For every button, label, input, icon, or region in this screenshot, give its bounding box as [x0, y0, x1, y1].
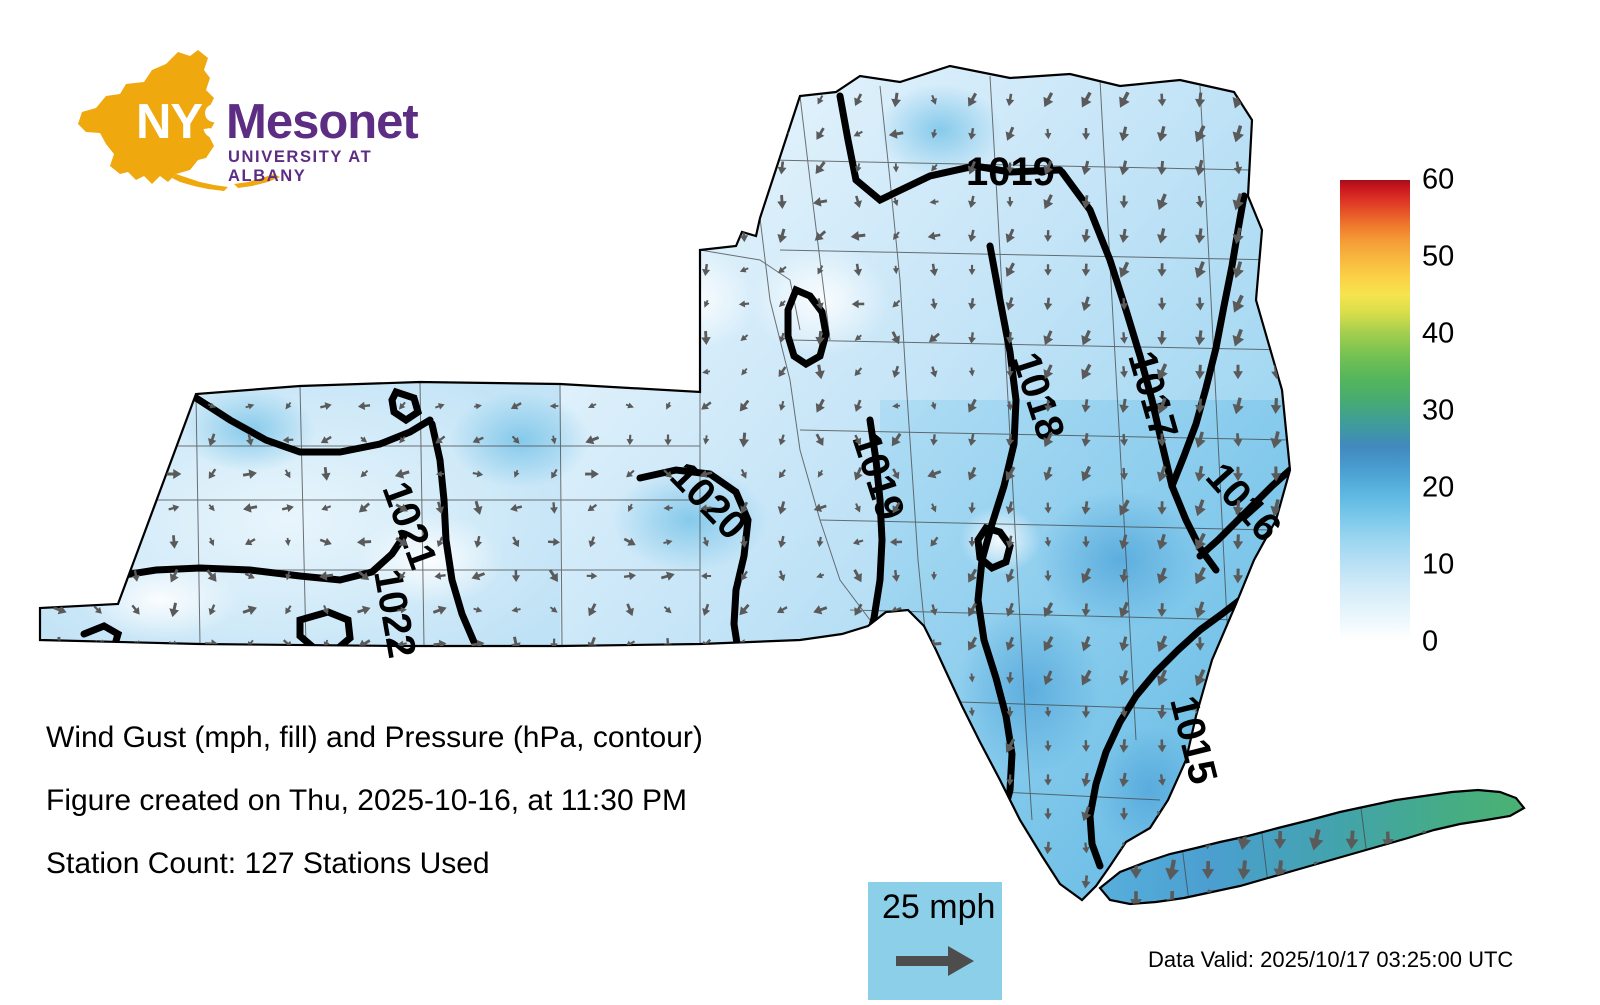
wind-arrow-glyph: [242, 160, 257, 176]
wind-arrow-glyph: [92, 674, 103, 682]
wind-arrow-glyph: [587, 94, 596, 106]
wind-arrow-glyph: [431, 670, 449, 686]
wind-arrow-glyph: [395, 262, 409, 278]
wind-arrow-glyph: [1267, 735, 1285, 756]
plot-title-line: Wind Gust (mph, fill) and Pressure (hPa,…: [46, 721, 703, 755]
wind-arrow-glyph: [281, 298, 296, 309]
wind-arrow-glyph: [508, 364, 524, 380]
wind-arrow-glyph: [130, 264, 142, 275]
colorbar-tick-40: 40: [1422, 318, 1454, 351]
wind-arrow-glyph: [167, 399, 181, 413]
wind-arrow-glyph: [433, 706, 448, 718]
wind-arrow-glyph: [131, 164, 141, 171]
wind-arrow-glyph: [659, 704, 677, 720]
wind-arrow-glyph: [1453, 890, 1467, 909]
wind-arrow-glyph: [584, 672, 600, 684]
wind-arrow-glyph: [127, 399, 144, 413]
wind-arrow-glyph: [243, 706, 257, 717]
wind-arrow-glyph: [283, 94, 293, 106]
wind-arrow-glyph: [436, 299, 443, 309]
wind-arrow-glyph: [166, 93, 181, 108]
wind-arrow-glyph: [358, 93, 370, 106]
wind-arrow-glyph: [1267, 633, 1285, 654]
wind-arrow-glyph: [549, 93, 559, 108]
wind-arrow-glyph: [1269, 669, 1282, 687]
wind-arrow-glyph: [1005, 875, 1015, 888]
wind-arrow-glyph: [738, 93, 749, 107]
wind-arrow-glyph: [547, 672, 560, 683]
wind-arrow-glyph: [318, 228, 335, 244]
wind-arrow-glyph: [660, 363, 677, 381]
wind-arrow-glyph: [242, 194, 258, 211]
wind-arrow-glyph: [472, 298, 484, 310]
wind-arrow-glyph: [854, 809, 862, 820]
wind-arrow-glyph: [128, 703, 144, 721]
wind-arrow-glyph: [663, 299, 672, 309]
colorbar-gradient: [1340, 180, 1410, 640]
wind-arrow-glyph: [55, 298, 65, 310]
wind-arrow-glyph: [852, 840, 864, 856]
wind-arrow-glyph: [701, 198, 711, 206]
wind-arrow-glyph: [432, 230, 447, 241]
wind-arrow-glyph: [92, 503, 104, 513]
wind-arrow-glyph: [510, 672, 523, 685]
wind-arrow-glyph: [1271, 568, 1281, 583]
wind-arrow-glyph: [698, 839, 714, 857]
wind-arrow-glyph: [90, 332, 105, 344]
wind-arrow-glyph: [850, 738, 867, 753]
wind-gust-colorbar: 60 50 40 30 20 10 0: [1340, 180, 1410, 640]
wind-arrow-glyph: [472, 161, 484, 174]
wind-arrow-glyph: [546, 196, 561, 208]
wind-arrow-glyph: [625, 161, 634, 174]
wind-arrow-glyph: [53, 194, 66, 210]
wind-arrow-glyph: [360, 299, 368, 309]
wind-arrow-glyph: [1195, 807, 1206, 822]
wind-arrow-glyph: [54, 706, 66, 717]
wind-arrow-glyph: [584, 264, 599, 277]
wind-arrow-glyph: [1267, 225, 1285, 246]
wind-arrow-glyph: [774, 92, 790, 108]
wind-arrow-glyph: [510, 706, 522, 719]
wind-arrow-glyph: [968, 775, 976, 786]
wind-arrow-glyph: [738, 809, 750, 819]
wind-arrow-glyph: [472, 128, 484, 140]
wind-arrow-glyph: [357, 229, 371, 243]
wind-arrow-glyph: [170, 436, 177, 445]
wind-arrow-glyph: [549, 127, 560, 142]
wind-arrow-glyph: [204, 262, 219, 278]
wind-arrow-glyph: [321, 365, 332, 379]
wind-arrow-glyph: [55, 468, 65, 480]
wind-arrow-glyph: [1266, 157, 1286, 180]
wind-arrow-glyph: [395, 707, 409, 717]
wind-arrow-glyph: [471, 365, 486, 379]
wind-arrow-glyph: [207, 231, 217, 240]
wind-speed-reference-legend: 25 mph: [868, 882, 1002, 1000]
arrow-right-icon: [896, 944, 976, 978]
wind-arrow-glyph: [814, 739, 825, 753]
wind-arrow-glyph: [622, 264, 637, 275]
wind-arrow-glyph: [662, 163, 674, 172]
wind-arrow-glyph: [663, 94, 673, 107]
wind-arrow-glyph: [1157, 842, 1167, 855]
wind-arrow-glyph: [396, 127, 408, 142]
wind-arrow-glyph: [320, 195, 331, 210]
wind-arrow-glyph: [203, 160, 221, 177]
wind-arrow-glyph: [93, 266, 103, 274]
wind-arrow-glyph: [739, 774, 748, 786]
wind-arrow-glyph: [1270, 331, 1281, 346]
wind-arrow-glyph: [663, 333, 673, 343]
wind-arrow-glyph: [207, 333, 217, 344]
wind-arrow-glyph: [359, 705, 369, 718]
wind-arrow-glyph: [207, 300, 216, 307]
wind-arrow-glyph: [929, 775, 940, 784]
wind-arrow-glyph: [130, 470, 142, 478]
wind-arrow-glyph: [169, 299, 179, 309]
colorbar-tick-10: 10: [1422, 549, 1454, 582]
wind-arrow-glyph: [815, 672, 825, 683]
wind-arrow-glyph: [511, 198, 522, 207]
wind-arrow-glyph: [396, 232, 408, 240]
wind-arrow-glyph: [926, 805, 942, 822]
wind-arrow-glyph: [625, 673, 635, 682]
wind-arrow-glyph: [206, 96, 217, 104]
wind-arrow-glyph: [358, 331, 370, 345]
wind-arrow-glyph: [169, 366, 178, 378]
wind-arrow-glyph: [660, 126, 677, 142]
wind-arrow-glyph: [776, 705, 788, 719]
wind-arrow-glyph: [589, 129, 596, 138]
wind-arrow-glyph: [473, 334, 484, 342]
wind-arrow-glyph: [588, 707, 595, 716]
wind-arrow-glyph: [128, 669, 145, 686]
wind-arrow-glyph: [626, 843, 634, 852]
wind-arrow-glyph: [131, 231, 141, 242]
wind-arrow-glyph: [851, 635, 865, 652]
wind-arrow-glyph: [280, 193, 296, 211]
wind-arrow-glyph: [91, 229, 104, 243]
wind-arrow-glyph: [205, 364, 218, 380]
wind-arrow-glyph: [1270, 703, 1283, 721]
wind-arrow-glyph: [246, 265, 255, 275]
wind-arrow-glyph: [735, 737, 753, 755]
wind-arrow-glyph: [167, 162, 182, 175]
wind-arrow-glyph: [92, 433, 105, 446]
wind-arrow-glyph: [57, 435, 63, 444]
wind-arrow-glyph: [170, 333, 177, 343]
wind-arrow-glyph: [128, 332, 143, 344]
wind-arrow-glyph: [778, 811, 787, 818]
wind-arrow-glyph: [208, 129, 216, 140]
wind-arrow-glyph: [319, 298, 333, 310]
wind-arrow-glyph: [549, 334, 560, 341]
wind-arrow-glyph: [281, 707, 296, 718]
wind-arrow-glyph: [853, 773, 863, 787]
wind-arrow-glyph: [91, 707, 104, 716]
wind-arrow-glyph: [511, 300, 521, 308]
wind-arrow-glyph: [549, 231, 559, 241]
wind-arrow-glyph: [93, 402, 103, 410]
wind-arrow-glyph: [816, 639, 824, 649]
wind-arrow-glyph: [736, 670, 752, 685]
wind-arrow-glyph: [54, 263, 66, 276]
wind-arrow-glyph: [700, 877, 711, 887]
wind-arrow-glyph: [773, 840, 790, 856]
colorbar-tick-50: 50: [1422, 241, 1454, 274]
wind-arrow-glyph: [131, 299, 141, 309]
wind-arrow-glyph: [968, 809, 975, 818]
wind-arrow-glyph: [1238, 891, 1251, 910]
wind-arrow-glyph: [775, 773, 789, 787]
wind-arrow-glyph: [510, 163, 521, 173]
wind-arrow-glyph: [624, 194, 637, 211]
wind-arrow-glyph: [547, 299, 561, 310]
wind-arrow-glyph: [241, 296, 259, 313]
wind-arrow-glyph: [54, 231, 65, 240]
wind-arrow-glyph: [931, 741, 937, 750]
wind-arrow-glyph: [473, 673, 483, 683]
wind-arrow-glyph: [1307, 889, 1325, 912]
wind-arrow-glyph: [356, 262, 372, 277]
wind-arrow-glyph: [1452, 829, 1469, 851]
wind-arrow-glyph: [698, 774, 714, 787]
wind-arrow-glyph: [853, 706, 863, 718]
wind-arrow-glyph: [91, 534, 105, 550]
wind-arrow-glyph: [698, 227, 715, 244]
wind-arrow-glyph: [321, 332, 332, 343]
wind-arrow-glyph: [1490, 891, 1503, 909]
wind-arrow-glyph: [738, 875, 750, 890]
wind-arrow-glyph: [472, 265, 484, 274]
wind-arrow-glyph: [662, 874, 675, 889]
wind-arrow-glyph: [1044, 877, 1052, 888]
wind-arrow-glyph: [774, 875, 790, 889]
wind-arrow-glyph: [243, 228, 258, 243]
wind-arrow-glyph: [889, 672, 903, 684]
wind-arrow-glyph: [776, 671, 788, 685]
wind-arrow-glyph: [433, 265, 446, 275]
wind-arrow-glyph: [815, 877, 826, 887]
wind-arrow-glyph: [133, 367, 140, 376]
wind-arrow-glyph: [245, 366, 254, 379]
wind-arrow-glyph: [739, 844, 749, 852]
wind-arrow-glyph: [624, 296, 637, 312]
wind-arrow-glyph: [52, 536, 67, 548]
wind-arrow-glyph: [1344, 889, 1361, 911]
wind-arrow-glyph: [548, 365, 561, 379]
colorbar-tick-0: 0: [1422, 626, 1438, 659]
wind-arrow-glyph: [777, 740, 787, 752]
wind-arrow-glyph: [588, 333, 596, 342]
wind-arrow-glyph: [395, 95, 408, 105]
colorbar-tick-60: 60: [1422, 164, 1454, 197]
wind-arrow-glyph: [890, 740, 902, 753]
wind-arrow-glyph: [55, 164, 65, 171]
wind-arrow-glyph: [549, 841, 559, 854]
wind-arrow-glyph: [586, 198, 597, 206]
wind-arrow-glyph: [511, 95, 521, 106]
wind-arrow-glyph: [660, 263, 676, 276]
wind-arrow-glyph: [512, 877, 520, 886]
wind-arrow-glyph: [1453, 860, 1467, 880]
wind-arrow-glyph: [55, 673, 65, 683]
wind-arrow-glyph: [626, 706, 635, 717]
wind-arrow-glyph: [623, 127, 637, 141]
wind-arrow-glyph: [588, 163, 596, 173]
wind-arrow-glyph: [893, 776, 899, 784]
colorbar-tick-30: 30: [1422, 395, 1454, 428]
wind-arrow-glyph: [435, 196, 445, 209]
wind-arrow-glyph: [660, 194, 676, 211]
wind-arrow-glyph: [892, 843, 900, 853]
wind-arrow-glyph: [508, 330, 524, 346]
wind-arrow-glyph: [53, 94, 67, 105]
wind-arrow-glyph: [398, 675, 407, 681]
wind-arrow-glyph: [625, 230, 635, 241]
wind-arrow-glyph: [395, 332, 409, 344]
wind-arrow-glyph: [169, 675, 179, 682]
wind-arrow-glyph: [548, 163, 560, 174]
wind-arrow-glyph: [1267, 124, 1284, 145]
wind-arrow-glyph: [929, 674, 940, 682]
wind-arrow-glyph: [625, 878, 635, 886]
wind-arrow-glyph: [130, 129, 141, 140]
wind-arrow-glyph: [664, 673, 672, 683]
wind-arrow-glyph: [206, 704, 217, 719]
wind-arrow-glyph: [1381, 860, 1396, 880]
wind-arrow-glyph: [473, 706, 484, 717]
wind-arrow-glyph: [358, 674, 370, 683]
wind-arrow-glyph: [814, 772, 826, 788]
wind-arrow-glyph: [509, 841, 522, 856]
wind-arrow-glyph: [699, 809, 713, 820]
wind-arrow-glyph: [740, 163, 747, 173]
wind-arrow-glyph: [584, 228, 601, 244]
wind-arrow-glyph: [168, 196, 181, 208]
wind-arrow-glyph: [283, 672, 292, 684]
wind-arrow-glyph: [700, 93, 712, 107]
wind-arrow-glyph: [167, 127, 181, 141]
wind-arrow-glyph: [243, 672, 257, 683]
wind-arrow-glyph: [321, 266, 332, 275]
wind-arrow-glyph: [282, 126, 294, 142]
wind-arrow-glyph: [702, 162, 711, 174]
wind-arrow-glyph: [665, 231, 671, 240]
wind-arrow-glyph: [283, 229, 293, 244]
wind-arrow-glyph: [359, 129, 368, 140]
wind-arrow-glyph: [888, 636, 904, 653]
wind-arrow-glyph: [1490, 832, 1502, 849]
wind-arrow-glyph: [585, 366, 599, 378]
wind-arrow-glyph: [204, 194, 220, 210]
wind-arrow-glyph: [815, 809, 825, 819]
wind-arrow-glyph: [1228, 633, 1247, 655]
wind-arrow-glyph: [321, 96, 332, 105]
wind-arrow-glyph: [279, 262, 297, 279]
wind-arrow-glyph: [1233, 671, 1244, 685]
station-count-line: Station Count: 127 Stations Used: [46, 847, 490, 881]
wind-arrow-glyph: [434, 366, 446, 379]
wind-arrow-glyph: [473, 93, 483, 106]
wind-arrow-glyph: [1165, 830, 1179, 849]
wind-arrow-glyph: [587, 298, 597, 310]
wind-arrow-glyph: [93, 161, 104, 175]
wind-arrow-glyph: [1380, 889, 1396, 911]
wind-arrow-glyph: [318, 126, 334, 142]
wind-arrow-glyph: [512, 230, 520, 241]
wind-arrow-glyph: [1227, 768, 1248, 792]
wind-arrow-glyph: [968, 740, 976, 751]
wind-arrow-glyph: [1233, 705, 1243, 719]
wind-arrow-glyph: [319, 671, 333, 685]
wind-arrow-glyph: [1416, 889, 1432, 911]
wind-arrow-glyph: [814, 842, 826, 855]
wind-arrow-glyph: [1271, 194, 1282, 209]
wind-arrow-glyph: [1346, 861, 1358, 878]
wind-arrow-glyph: [469, 227, 487, 244]
wind-arrow-glyph: [1267, 599, 1285, 621]
wind-arrow-glyph: [245, 332, 256, 344]
wind-arrow-glyph: [1274, 891, 1286, 908]
colorbar-tick-20: 20: [1422, 472, 1454, 505]
wind-arrow-glyph: [55, 570, 65, 583]
wind-arrow-glyph: [625, 365, 635, 379]
wind-arrow-glyph: [1003, 840, 1017, 856]
wind-arrow-glyph: [131, 197, 141, 208]
wind-arrow-glyph: [1270, 807, 1281, 822]
wind-arrow-glyph: [92, 569, 103, 583]
wind-arrow-glyph: [92, 96, 103, 105]
wind-arrow-glyph: [583, 874, 600, 890]
wind-arrow-glyph: [128, 502, 144, 514]
wind-arrow-glyph: [1490, 861, 1502, 878]
wind-arrow-glyph: [92, 129, 103, 139]
wind-arrow-glyph: [360, 162, 368, 174]
wind-arrow-glyph: [321, 161, 331, 175]
wind-arrow-glyph: [510, 264, 522, 276]
wind-arrow-glyph: [740, 128, 749, 141]
wind-arrow-glyph: [90, 296, 105, 311]
wind-arrow-glyph: [168, 704, 181, 720]
wind-arrow-glyph: [92, 195, 103, 208]
figure-created-line: Figure created on Thu, 2025-10-16, at 11…: [46, 784, 687, 818]
wind-arrow-glyph: [55, 365, 66, 378]
wind-arrow-glyph: [471, 194, 486, 209]
wind-arrow-glyph: [283, 332, 293, 345]
wind-arrow-glyph: [92, 365, 105, 379]
wind-arrow-glyph: [509, 127, 522, 142]
wind-arrow-glyph: [586, 842, 597, 854]
wind-arrow-glyph: [93, 469, 103, 479]
wind-arrow-glyph: [167, 229, 181, 243]
wind-arrow-glyph: [128, 431, 145, 449]
wind-arrow-glyph: [1233, 739, 1244, 753]
wind-arrow-glyph: [852, 876, 865, 889]
wind-arrow-glyph: [702, 672, 710, 684]
wind-arrow-glyph: [1230, 804, 1246, 824]
wind-arrow-glyph: [849, 670, 867, 687]
wind-arrow-glyph: [548, 264, 560, 277]
wind-legend-label: 25 mph: [882, 888, 995, 927]
wind-arrow-glyph: [890, 806, 903, 822]
wind-arrow-glyph: [54, 401, 65, 411]
wind-arrow-glyph: [434, 331, 446, 345]
wind-arrow-glyph: [548, 876, 560, 887]
wind-arrow-glyph: [319, 706, 334, 718]
wind-arrow-glyph: [701, 706, 711, 718]
